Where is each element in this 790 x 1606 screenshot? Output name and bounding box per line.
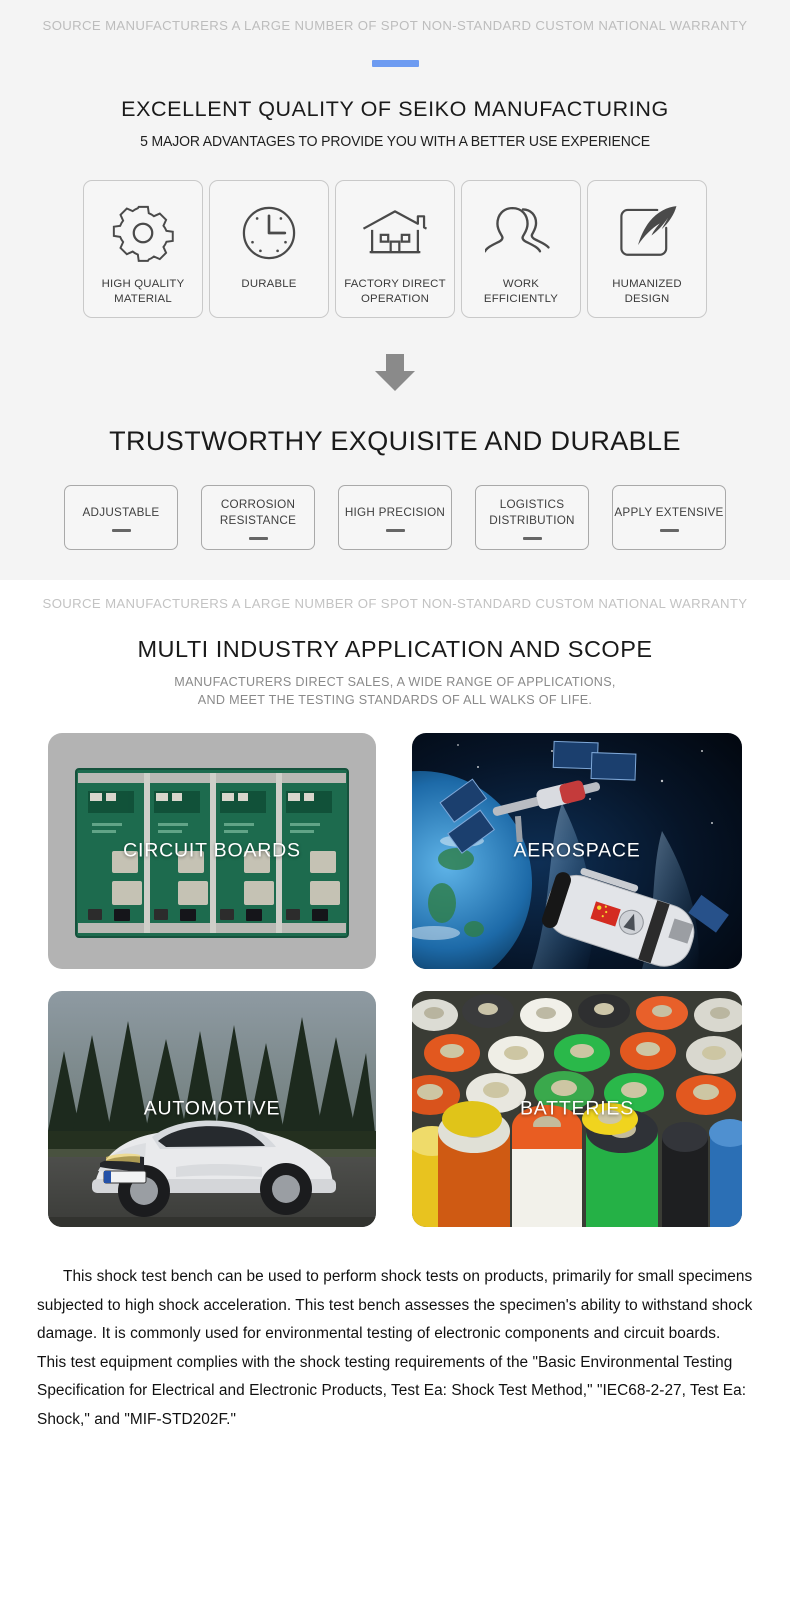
advantage-card-work-efficiently[interactable]: WORK EFFICIENTLY [461,180,581,318]
applications-subtitle: MANUFACTURERS DIRECT SALES, A WIDE RANGE… [0,674,790,709]
application-card-batteries[interactable]: BATTERIES [412,991,742,1227]
trust-card-corrosion-resistance[interactable]: CORROSION RESISTANCE [201,485,315,550]
pen-square-icon [615,195,679,271]
trust-label: ADJUSTABLE [83,505,160,520]
trust-headline: TRUSTWORTHY EXQUISITE AND DURABLE [0,426,790,457]
clock-icon [236,195,302,271]
trust-card-logistics-distribution[interactable]: LOGISTICS DISTRIBUTION [475,485,589,550]
advantage-card-high-quality-material[interactable]: HIGH QUALITY MATERIAL [83,180,203,318]
factory-house-icon [361,195,429,271]
product-description-paragraph: This shock test bench can be used to per… [37,1263,753,1460]
advantage-card-durable[interactable]: DURABLE [209,180,329,318]
trust-card-adjustable[interactable]: ADJUSTABLE [64,485,178,550]
advantages-headline: EXCELLENT QUALITY OF SEIKO MANUFACTURING [0,97,790,122]
applications-subtitle-line-1: MANUFACTURERS DIRECT SALES, A WIDE RANGE… [0,674,790,692]
applications-card-grid: CIRCUIT BOARDS [48,733,742,1227]
top-banner-text: SOURCE MANUFACTURERS A LARGE NUMBER OF S… [0,12,790,33]
application-card-automotive[interactable]: AUTOMOTIVE [48,991,376,1227]
gear-icon [110,195,176,271]
application-card-label: CIRCUIT BOARDS [48,840,376,863]
advantages-subheadline: 5 MAJOR ADVANTAGES TO PROVIDE YOU WITH A… [16,134,774,150]
applications-title: MULTI INDUSTRY APPLICATION AND SCOPE [0,636,790,663]
advantage-label: HIGH QUALITY MATERIAL [84,277,202,306]
trust-label: HIGH PRECISION [345,505,445,520]
applications-section: SOURCE MANUFACTURERS A LARGE NUMBER OF S… [0,580,790,1464]
advantage-card-factory-direct-operation[interactable]: FACTORY DIRECT OPERATION [335,180,455,318]
application-card-label: BATTERIES [412,1098,742,1121]
underline-dash [112,529,131,532]
advantage-label: FACTORY DIRECT OPERATION [336,277,454,306]
application-card-label: AUTOMOTIVE [48,1098,376,1121]
down-arrow-icon [373,354,417,392]
advantage-card-humanized-design[interactable]: HUMANIZED DESIGN [587,180,707,318]
applications-subtitle-line-2: AND MEET THE TESTING STANDARDS OF ALL WA… [0,692,790,710]
trust-label: APPLY EXTENSIVE [614,505,723,520]
arrow-wrapper [0,354,790,392]
application-card-label: AEROSPACE [412,840,742,863]
underline-dash [660,529,679,532]
advantages-section: SOURCE MANUFACTURERS A LARGE NUMBER OF S… [0,0,790,580]
underline-dash [523,537,542,540]
underline-dash [386,529,405,532]
trust-card-apply-extensive[interactable]: APPLY EXTENSIVE [612,485,726,550]
application-card-aerospace[interactable]: AEROSPACE [412,733,742,969]
advantage-label: DURABLE [237,277,300,292]
underline-dash [249,537,268,540]
advantages-icon-row: HIGH QUALITY MATERIAL [0,180,790,318]
advantage-label: WORK EFFICIENTLY [462,277,580,306]
two-people-icon [485,195,557,271]
accent-divider-bar [372,60,419,67]
trust-card-high-precision[interactable]: HIGH PRECISION [338,485,452,550]
application-card-circuit-boards[interactable]: CIRCUIT BOARDS [48,733,376,969]
advantage-label: HUMANIZED DESIGN [588,277,706,306]
applications-banner-text: SOURCE MANUFACTURERS A LARGE NUMBER OF S… [0,588,790,611]
trust-label: LOGISTICS DISTRIBUTION [476,497,588,527]
trust-pill-row: ADJUSTABLE CORROSION RESISTANCE HIGH PRE… [0,485,790,550]
trust-label: CORROSION RESISTANCE [202,497,314,527]
